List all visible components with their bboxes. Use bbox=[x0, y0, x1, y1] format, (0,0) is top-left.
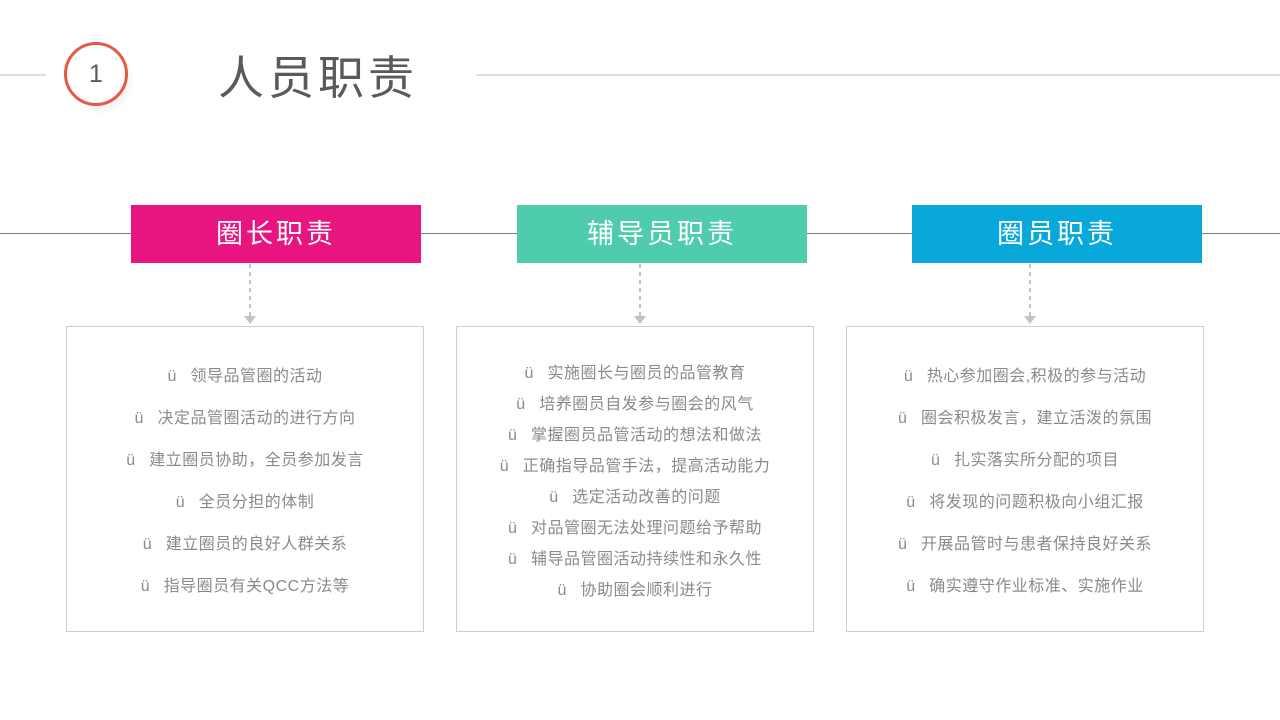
responsibility-item-label: 正确指导品管手法，提高活动能力 bbox=[523, 452, 771, 476]
responsibility-item: ü协助圈会顺利进行 bbox=[465, 576, 805, 600]
column-header-circle-leader[interactable]: 圈长职责 bbox=[131, 205, 421, 263]
connector-line-circle-leader bbox=[249, 264, 251, 320]
responsibility-item: ü扎实落实所分配的项目 bbox=[855, 446, 1195, 470]
columns-container: 圈长职责 ü领导品管圈的活动ü决定品管圈活动的进行方向ü建立圈员协助，全员参加发… bbox=[0, 0, 1280, 720]
connector-arrow-icon-circle-member bbox=[1024, 316, 1036, 324]
responsibility-item: ü实施圈长与圈员的品管教育 bbox=[465, 359, 805, 383]
responsibility-item: ü全员分担的体制 bbox=[75, 488, 415, 512]
slide-root: { "header": { "badge_number": "1", "titl… bbox=[0, 0, 1280, 720]
column-body-circle-leader: ü领导品管圈的活动ü决定品管圈活动的进行方向ü建立圈员协助，全员参加发言ü全员分… bbox=[66, 326, 424, 632]
responsibility-item: ü圈会积极发言，建立活泼的氛围 bbox=[855, 404, 1195, 428]
responsibility-item-label: 开展品管时与患者保持良好关系 bbox=[921, 530, 1152, 554]
responsibility-item: ü建立圈员的良好人群关系 bbox=[75, 530, 415, 554]
column-header-label: 圈员职责 bbox=[997, 221, 1117, 248]
column-header-circle-member[interactable]: 圈员职责 bbox=[912, 205, 1202, 263]
check-bullet-icon: ü bbox=[176, 494, 185, 512]
column-counselor: 辅导员职责 ü实施圈长与圈员的品管教育ü培养圈员自发参与圈会的风气ü掌握圈员品管… bbox=[445, 0, 835, 720]
check-bullet-icon: ü bbox=[898, 410, 907, 428]
check-bullet-icon: ü bbox=[135, 410, 144, 428]
check-bullet-icon: ü bbox=[904, 368, 913, 386]
responsibility-item-label: 扎实落实所分配的项目 bbox=[954, 446, 1119, 470]
column-header-counselor[interactable]: 辅导员职责 bbox=[517, 205, 807, 263]
responsibility-item: ü建立圈员协助，全员参加发言 bbox=[75, 446, 415, 470]
responsibility-item: ü决定品管圈活动的进行方向 bbox=[75, 404, 415, 428]
responsibility-item: ü热心参加圈会,积极的参与活动 bbox=[855, 362, 1195, 386]
responsibility-item: ü开展品管时与患者保持良好关系 bbox=[855, 530, 1195, 554]
connector-arrow-icon-counselor bbox=[634, 316, 646, 324]
column-header-label: 圈长职责 bbox=[216, 221, 336, 248]
responsibility-item: ü将发现的问题积极向小组汇报 bbox=[855, 488, 1195, 512]
check-bullet-icon: ü bbox=[549, 489, 558, 507]
check-bullet-icon: ü bbox=[508, 427, 517, 445]
responsibility-item: ü正确指导品管手法，提高活动能力 bbox=[465, 452, 805, 476]
check-bullet-icon: ü bbox=[931, 452, 940, 470]
check-bullet-icon: ü bbox=[141, 578, 150, 596]
check-bullet-icon: ü bbox=[143, 536, 152, 554]
connector-line-circle-member bbox=[1029, 264, 1031, 320]
check-bullet-icon: ü bbox=[906, 578, 915, 596]
responsibility-item-label: 辅导品管圈活动持续性和永久性 bbox=[531, 545, 762, 569]
column-body-circle-member: ü热心参加圈会,积极的参与活动ü圈会积极发言，建立活泼的氛围ü扎实落实所分配的项… bbox=[846, 326, 1204, 632]
responsibility-item: ü选定活动改善的问题 bbox=[465, 483, 805, 507]
responsibility-item-label: 热心参加圈会,积极的参与活动 bbox=[927, 362, 1146, 386]
responsibility-item-label: 掌握圈员品管活动的想法和做法 bbox=[531, 421, 762, 445]
responsibility-item: ü掌握圈员品管活动的想法和做法 bbox=[465, 421, 805, 445]
responsibility-item: ü指导圈员有关QCC方法等 bbox=[75, 572, 415, 596]
responsibility-item: ü培养圈员自发参与圈会的风气 bbox=[465, 390, 805, 414]
responsibility-item-label: 全员分担的体制 bbox=[199, 488, 315, 512]
responsibility-item-label: 选定活动改善的问题 bbox=[572, 483, 721, 507]
responsibility-item-label: 协助圈会顺利进行 bbox=[580, 576, 712, 600]
column-header-label: 辅导员职责 bbox=[587, 221, 737, 248]
column-circle-leader: 圈长职责 ü领导品管圈的活动ü决定品管圈活动的进行方向ü建立圈员协助，全员参加发… bbox=[55, 0, 445, 720]
check-bullet-icon: ü bbox=[898, 536, 907, 554]
check-bullet-icon: ü bbox=[525, 365, 534, 383]
check-bullet-icon: ü bbox=[508, 520, 517, 538]
responsibility-item-label: 决定品管圈活动的进行方向 bbox=[157, 404, 355, 428]
responsibility-item-label: 确实遵守作业标准、实施作业 bbox=[929, 572, 1144, 596]
responsibility-item: ü对品管圈无法处理问题给予帮助 bbox=[465, 514, 805, 538]
responsibility-item-label: 对品管圈无法处理问题给予帮助 bbox=[531, 514, 762, 538]
responsibility-item-label: 领导品管圈的活动 bbox=[190, 362, 322, 386]
check-bullet-icon: ü bbox=[126, 452, 135, 470]
check-bullet-icon: ü bbox=[508, 551, 517, 569]
responsibility-item: ü辅导品管圈活动持续性和永久性 bbox=[465, 545, 805, 569]
responsibility-item-label: 建立圈员的良好人群关系 bbox=[166, 530, 348, 554]
responsibility-item-label: 将发现的问题积极向小组汇报 bbox=[929, 488, 1144, 512]
responsibility-item: ü确实遵守作业标准、实施作业 bbox=[855, 572, 1195, 596]
check-bullet-icon: ü bbox=[516, 396, 525, 414]
connector-line-counselor bbox=[639, 264, 641, 320]
column-circle-member: 圈员职责 ü热心参加圈会,积极的参与活动ü圈会积极发言，建立活泼的氛围ü扎实落实… bbox=[835, 0, 1225, 720]
responsibility-item-label: 培养圈员自发参与圈会的风气 bbox=[539, 390, 754, 414]
column-body-counselor: ü实施圈长与圈员的品管教育ü培养圈员自发参与圈会的风气ü掌握圈员品管活动的想法和… bbox=[456, 326, 814, 632]
responsibility-item-label: 指导圈员有关QCC方法等 bbox=[164, 572, 350, 596]
responsibility-item-label: 实施圈长与圈员的品管教育 bbox=[547, 359, 745, 383]
check-bullet-icon: ü bbox=[168, 368, 177, 386]
connector-arrow-icon-circle-leader bbox=[244, 316, 256, 324]
responsibility-item-label: 建立圈员协助，全员参加发言 bbox=[149, 446, 364, 470]
check-bullet-icon: ü bbox=[500, 458, 509, 476]
responsibility-item-label: 圈会积极发言，建立活泼的氛围 bbox=[921, 404, 1152, 428]
check-bullet-icon: ü bbox=[558, 582, 567, 600]
responsibility-item: ü领导品管圈的活动 bbox=[75, 362, 415, 386]
check-bullet-icon: ü bbox=[906, 494, 915, 512]
